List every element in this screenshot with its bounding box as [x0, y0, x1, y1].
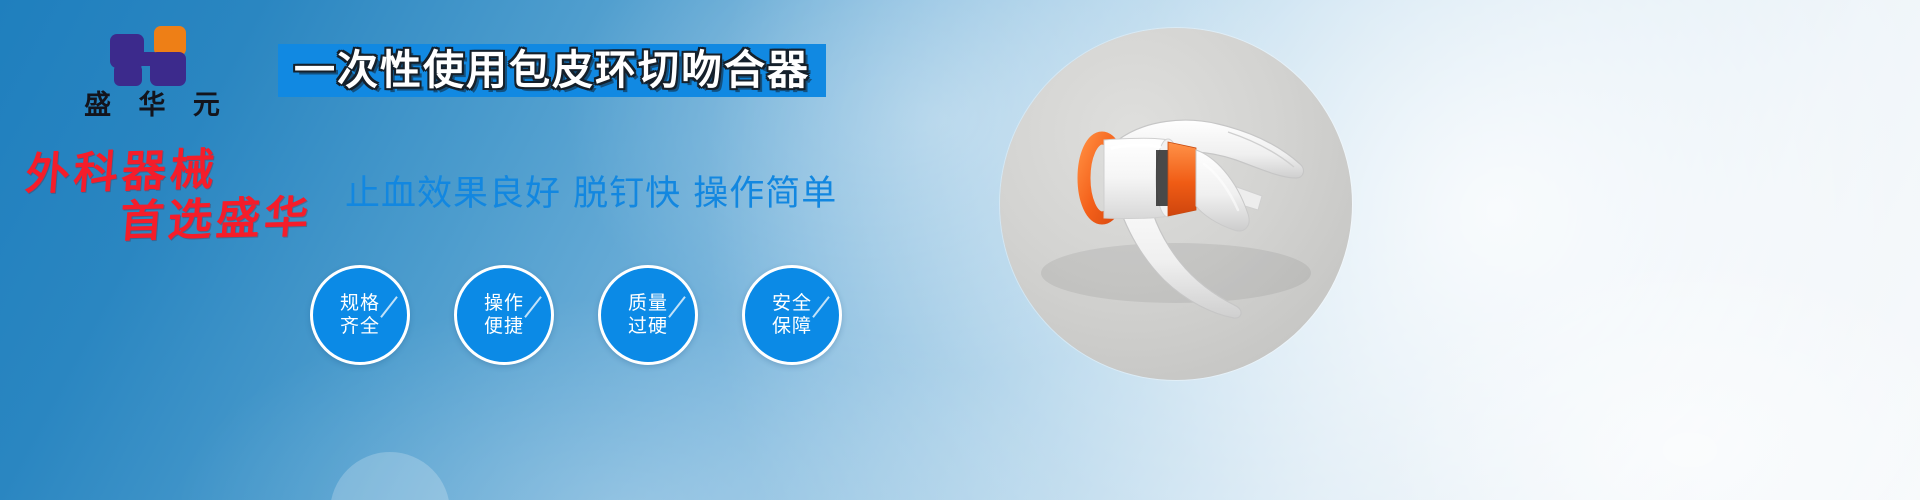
- product-image: [1000, 28, 1352, 380]
- background-glow-right: [1380, 250, 1920, 500]
- shenghuayuan-logo-mark-icon: [110, 26, 194, 86]
- feature-badge-line-1: 安全: [772, 292, 812, 315]
- slash-decor-icon: [812, 296, 830, 318]
- brand-logo: 盛 华 元: [62, 26, 242, 120]
- stapler-dark-seam: [1156, 150, 1168, 206]
- product-title: 一次性使用包皮环切吻合器: [294, 50, 810, 91]
- product-title-banner: 一次性使用包皮环切吻合器: [278, 44, 826, 97]
- feature-badge[interactable]: 安全 保障: [742, 265, 842, 365]
- brand-name: 盛 华 元: [62, 92, 242, 120]
- circumcision-stapler-illustration-icon: [1000, 28, 1352, 380]
- logo-shape-purple-right: [150, 52, 186, 86]
- slash-decor-icon: [668, 296, 686, 318]
- decorative-circle: [330, 452, 450, 500]
- slash-decor-icon: [380, 296, 398, 318]
- feature-badge[interactable]: 质量 过硬: [598, 265, 698, 365]
- product-subtitle: 止血效果良好 脱钉快 操作简单: [345, 165, 837, 216]
- feature-badge[interactable]: 操作 便捷: [454, 265, 554, 365]
- feature-badge-line-2: 保障: [772, 315, 812, 338]
- feature-badge-line-1: 质量: [628, 292, 668, 315]
- feature-badge-line-2: 过硬: [628, 315, 668, 338]
- logo-shape-purple-bottom: [114, 64, 142, 86]
- stapler-orange-band: [1168, 142, 1196, 216]
- feature-badge-line-2: 齐全: [340, 315, 380, 338]
- feature-badge-line-2: 便捷: [484, 315, 524, 338]
- feature-badge[interactable]: 规格 齐全: [310, 265, 410, 365]
- feature-badge-list: 规格 齐全 操作 便捷 质量 过硬 安全 保障: [310, 265, 842, 365]
- feature-badge-line-1: 规格: [340, 292, 380, 315]
- promo-banner: 盛 华 元 外科器械 首选盛华 一次性使用包皮环切吻合器 止血效果良好 脱钉快 …: [0, 0, 1920, 500]
- feature-badge-line-1: 操作: [484, 292, 524, 315]
- slash-decor-icon: [524, 296, 542, 318]
